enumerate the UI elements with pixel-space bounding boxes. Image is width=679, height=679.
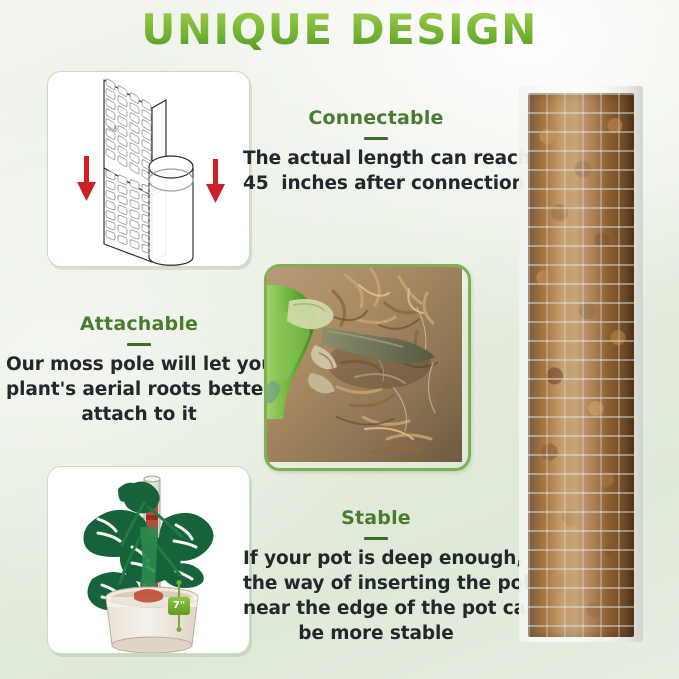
feature-connectable: Connectable The actual length can reach … bbox=[243, 106, 509, 196]
infographic-canvas: UNIQUE DESIGN bbox=[0, 0, 679, 679]
feature-connectable-line-2: 45 inches after connection bbox=[243, 171, 509, 196]
stable-illustration-card: 7" bbox=[47, 466, 250, 654]
pot-with-pole-diagram bbox=[48, 467, 249, 653]
heading-divider bbox=[364, 537, 388, 540]
feature-stable-line-4: be more stable bbox=[243, 621, 509, 646]
feature-connectable-heading: Connectable bbox=[243, 106, 509, 130]
feature-stable-line-3: near the edge of the pot can bbox=[243, 596, 509, 621]
feature-stable-line-1: If your pot is deep enough, bbox=[243, 546, 509, 571]
feature-attachable: Attachable Our moss pole will let your p… bbox=[6, 312, 272, 427]
heading-divider bbox=[364, 137, 388, 140]
aerial-roots-photo bbox=[267, 267, 462, 462]
product-moss-pole-photo bbox=[519, 86, 643, 642]
feature-attachable-heading: Attachable bbox=[6, 312, 272, 336]
feature-attachable-body: Our moss pole will let your plant's aeri… bbox=[6, 352, 272, 427]
feature-stable-heading: Stable bbox=[243, 506, 509, 530]
heading-divider bbox=[127, 343, 151, 346]
pole-coir-fill bbox=[528, 93, 634, 637]
feature-attachable-line-2: plant's aerial roots better bbox=[6, 377, 272, 402]
down-arrow-icon-right bbox=[206, 159, 225, 203]
feature-stable: Stable If your pot is deep enough, the w… bbox=[243, 506, 509, 646]
feature-stable-line-2: the way of inserting the pole bbox=[243, 571, 509, 596]
connectable-illustration-card bbox=[47, 71, 250, 267]
feature-attachable-line-3: attach to it bbox=[6, 402, 272, 427]
down-arrow-icon-left bbox=[77, 156, 96, 201]
feature-attachable-line-1: Our moss pole will let your bbox=[6, 352, 272, 377]
feature-connectable-body: The actual length can reach 45 inches af… bbox=[243, 146, 509, 196]
pot-depth-measure: 7" bbox=[168, 580, 190, 632]
feature-connectable-line-1: The actual length can reach bbox=[243, 146, 509, 171]
page-title: UNIQUE DESIGN bbox=[0, 4, 679, 56]
attachable-root-photo-card bbox=[264, 264, 471, 471]
feature-stable-body: If your pot is deep enough, the way of i… bbox=[243, 546, 509, 646]
connector-diagram bbox=[48, 72, 249, 266]
pot-depth-badge: 7" bbox=[168, 597, 190, 615]
